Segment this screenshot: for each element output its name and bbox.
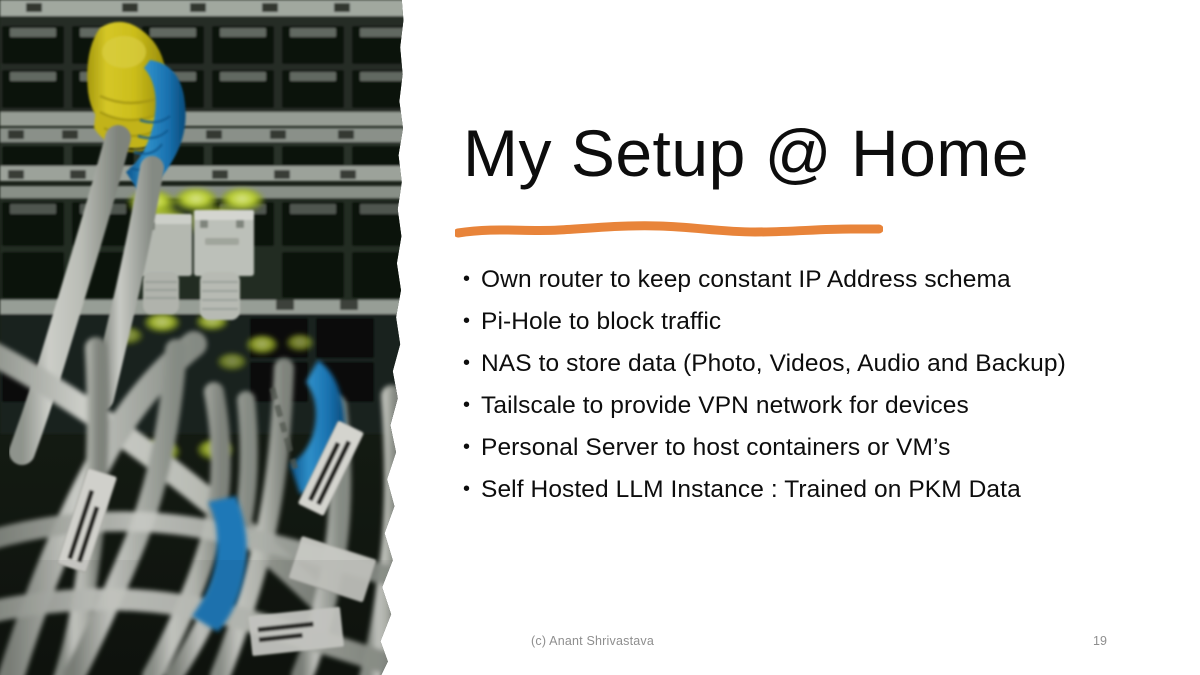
list-item-label: Own router to keep constant IP Address s…: [481, 266, 1011, 294]
list-item: • Tailscale to provide VPN network for d…: [463, 392, 1163, 434]
list-item: • Self Hosted LLM Instance : Trained on …: [463, 476, 1163, 518]
bullet-dot-icon: •: [463, 479, 481, 499]
page-title: My Setup @ Home: [463, 120, 1163, 186]
list-item: • NAS to store data (Photo, Videos, Audi…: [463, 350, 1163, 392]
bullet-dot-icon: •: [463, 311, 481, 331]
list-item-label: Pi-Hole to block traffic: [481, 308, 721, 336]
list-item-label: Personal Server to host containers or VM…: [481, 434, 950, 462]
bullet-list: • Own router to keep constant IP Address…: [463, 266, 1163, 518]
bullet-dot-icon: •: [463, 395, 481, 415]
slide-number: 19: [1080, 634, 1120, 648]
bullet-dot-icon: •: [463, 269, 481, 289]
list-item-label: Tailscale to provide VPN network for dev…: [481, 392, 969, 420]
bullet-dot-icon: •: [463, 353, 481, 373]
bullet-dot-icon: •: [463, 437, 481, 457]
list-item: • Pi-Hole to block traffic: [463, 308, 1163, 350]
presentation-slide: My Setup @ Home • Own router to keep con…: [0, 0, 1200, 675]
list-item: • Own router to keep constant IP Address…: [463, 266, 1163, 308]
footer-credit: (c) Anant Shrivastava: [531, 634, 654, 648]
list-item: • Personal Server to host containers or …: [463, 434, 1163, 476]
photo-artwork: [0, 0, 410, 675]
title-underline-accent: [455, 218, 883, 244]
network-switch-ethernet-cables-photo: [0, 0, 410, 675]
list-item-label: Self Hosted LLM Instance : Trained on PK…: [481, 476, 1021, 504]
underline-squiggle-icon: [455, 218, 883, 244]
list-item-label: NAS to store data (Photo, Videos, Audio …: [481, 350, 1066, 378]
